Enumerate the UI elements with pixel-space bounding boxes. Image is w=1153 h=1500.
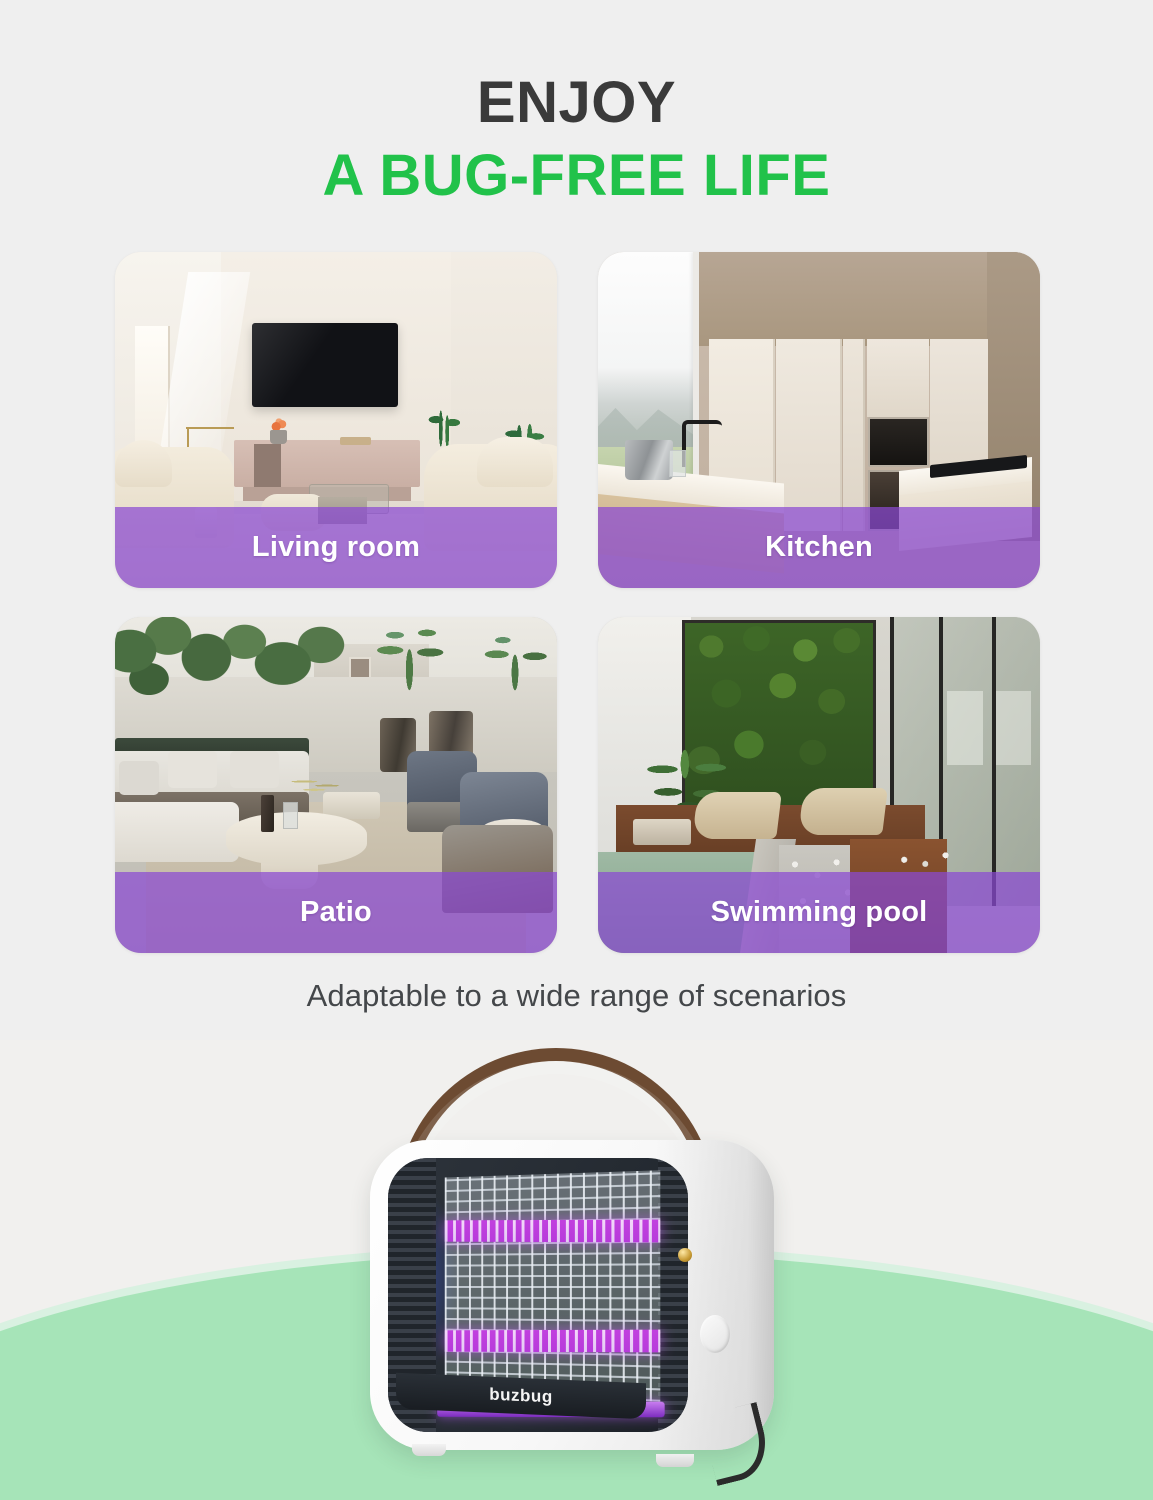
product-bug-zapper: buzbug [356, 1048, 808, 1478]
product-marketing-page: ENJOY A BUG-FREE LIFE [0, 0, 1153, 1500]
pt-pillow-3 [230, 751, 279, 788]
lr-floor-lamp-arm [186, 427, 235, 429]
kt-built-in-oven [868, 417, 930, 467]
page-title: ENJOY A BUG-FREE LIFE [0, 72, 1153, 207]
scenario-label-band: Swimming pool [598, 872, 1040, 953]
sp-glass-panel-1 [947, 691, 982, 765]
kt-steel-pot [625, 440, 674, 480]
subcaption: Adaptable to a wide range of scenarios [0, 978, 1153, 1014]
scenario-card-grid: Living room [115, 252, 1040, 953]
power-button[interactable] [700, 1315, 730, 1353]
uv-lamp-upper [445, 1220, 661, 1243]
kt-cabinet-4 [867, 339, 929, 416]
scenario-label-text: Living room [252, 531, 420, 564]
uv-lamp-lower [445, 1330, 661, 1353]
brand-logo-text: buzbug [489, 1385, 552, 1408]
pt-bottle [261, 795, 274, 832]
scenario-label-text: Patio [300, 896, 372, 929]
kt-glass [669, 450, 687, 477]
pt-pillow-1 [119, 761, 159, 795]
scenario-label-band: Patio [115, 872, 557, 953]
kt-cabinet-3 [843, 339, 865, 531]
scenario-card-living-room[interactable]: Living room [115, 252, 557, 588]
sp-sun-lounger-2 [798, 788, 888, 835]
product-foot-right [656, 1454, 694, 1467]
scenario-card-patio[interactable]: Patio [115, 617, 557, 953]
sp-glass-panel-2 [996, 691, 1031, 765]
pt-palm-right [477, 624, 552, 725]
pt-sofa-cushions [115, 802, 239, 862]
scenario-card-swimming-pool[interactable]: Swimming pool [598, 617, 1040, 953]
pt-dried-grass [283, 768, 354, 802]
sp-sun-lounger-1 [692, 792, 782, 839]
sp-tray-items [633, 819, 690, 846]
pt-pillow-2 [168, 751, 217, 788]
headline-line-1: ENJOY [0, 72, 1153, 135]
lr-sofa-right-back [477, 437, 552, 487]
brass-rivet-icon [678, 1248, 692, 1262]
scenario-card-kitchen[interactable]: Kitchen [598, 252, 1040, 588]
electric-grid-mesh [445, 1170, 661, 1402]
right-vent-slats [658, 1158, 688, 1432]
kt-faucet [682, 420, 722, 467]
headline-line-2: A BUG-FREE LIFE [0, 145, 1153, 208]
scenario-label-text: Kitchen [765, 531, 873, 564]
lr-television [252, 323, 398, 407]
kt-cabinet-2 [776, 339, 842, 531]
lr-books [340, 437, 371, 445]
pt-candle-glass [283, 802, 298, 829]
scenario-label-text: Swimming pool [711, 896, 928, 929]
scenario-label-band: Kitchen [598, 507, 1040, 588]
lr-vase [270, 430, 288, 443]
lr-console-shelf [254, 444, 281, 488]
scenario-label-band: Living room [115, 507, 557, 588]
product-foot-left [412, 1444, 446, 1456]
